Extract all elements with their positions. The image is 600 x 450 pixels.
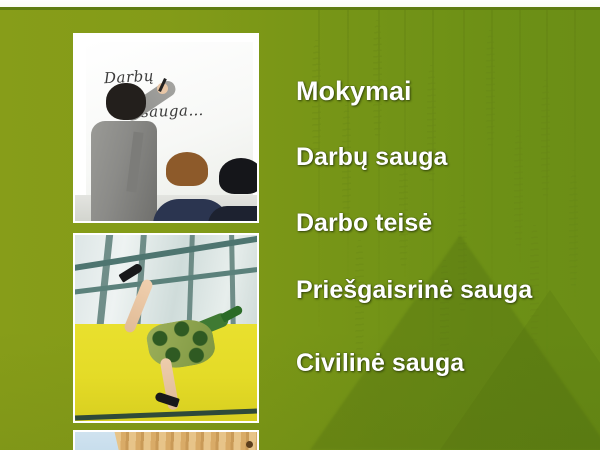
whiteboard-scene: Darbų sauga… xyxy=(75,35,257,221)
menu-item-priesgaisrine-sauga[interactable]: Priešgaisrinė sauga xyxy=(296,278,532,303)
photo-whiteboard-lecture[interactable]: Darbų sauga… xyxy=(73,33,259,223)
audience-person-1-head xyxy=(166,152,208,186)
presenter-head xyxy=(106,83,146,120)
menu-item-darbo-teise[interactable]: Darbo teisė xyxy=(296,211,432,236)
menu-item-darbu-sauga[interactable]: Darbų sauga xyxy=(296,145,447,170)
presenter-body xyxy=(91,121,157,223)
slip-scene xyxy=(75,235,257,421)
audience-person-2-head xyxy=(219,158,259,194)
menu-item-civiline-sauga[interactable]: Civilinė sauga xyxy=(296,351,464,376)
audience-person-2-body xyxy=(208,206,259,223)
menu-item-mokymai[interactable]: Mokymai xyxy=(296,78,412,105)
wood-scene xyxy=(75,432,257,450)
photo-wooden-roof[interactable] xyxy=(73,430,259,450)
slide-canvas: Darbų sauga… xyxy=(0,0,600,450)
top-white-strip xyxy=(0,0,600,7)
photo-slip-and-fall[interactable] xyxy=(73,233,259,423)
wooden-planks xyxy=(114,430,259,450)
